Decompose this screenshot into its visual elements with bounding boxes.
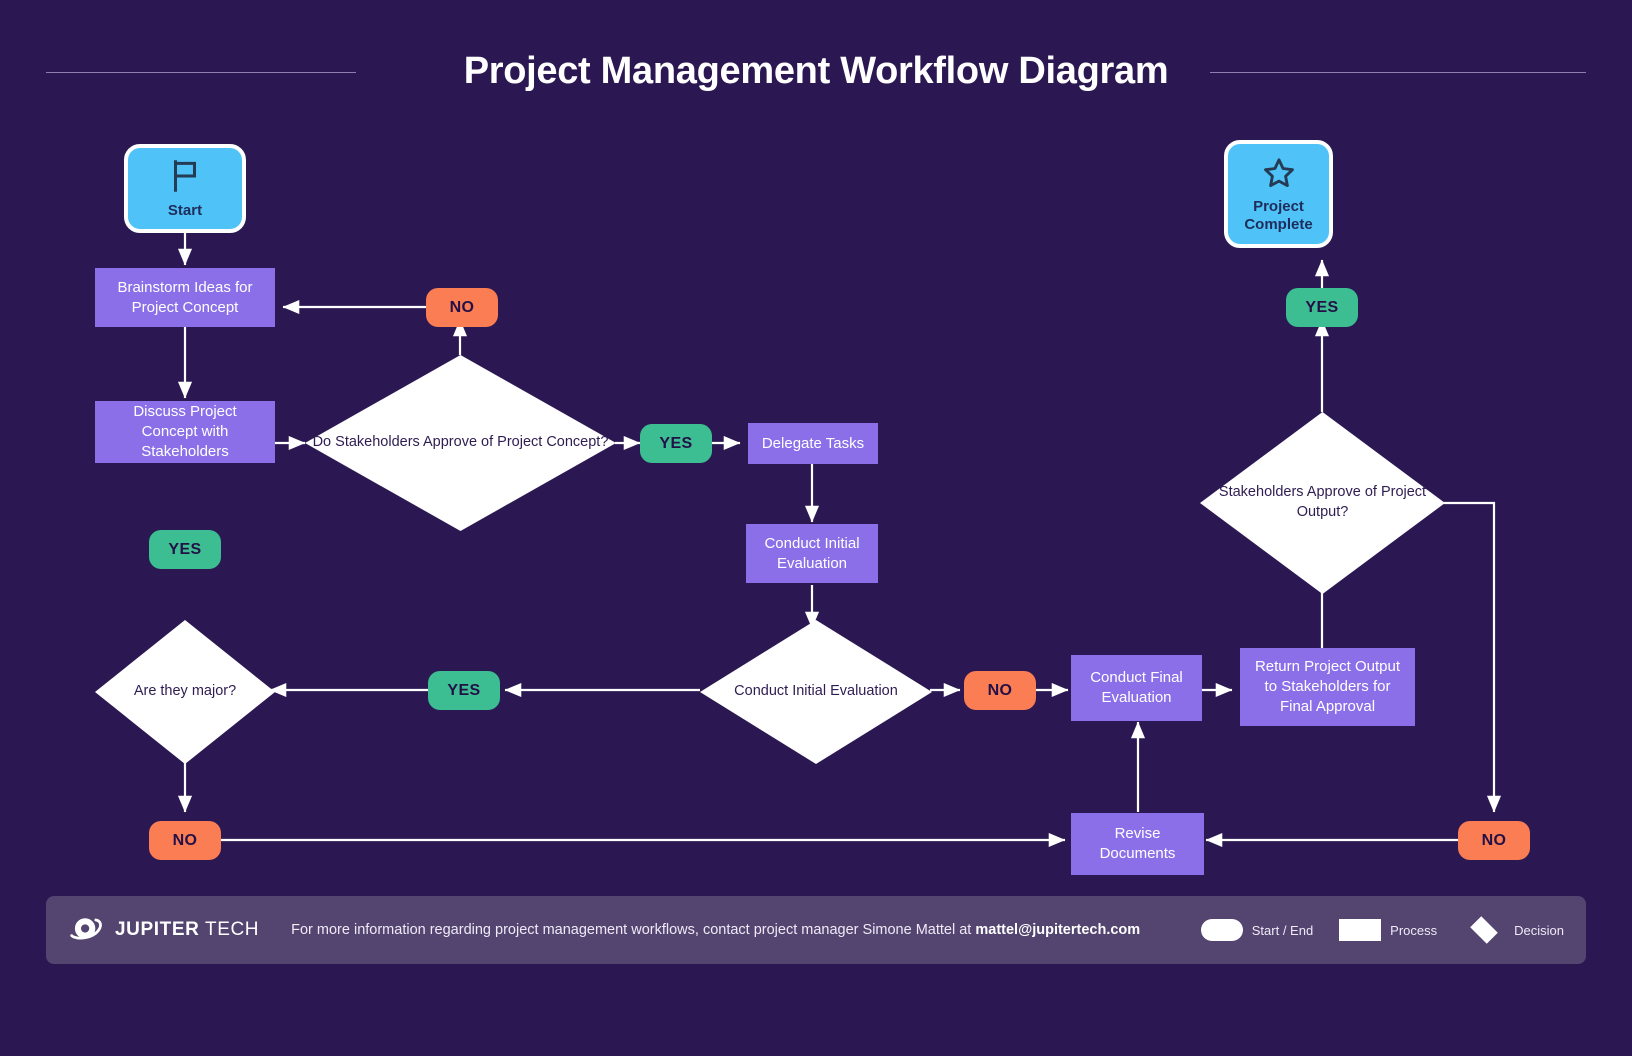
brand-name: JUPITER TECH [115,919,259,941]
legend-item-process: Process [1339,919,1437,941]
badge-no-concept[interactable]: NO [426,288,498,327]
start-label: Start [168,202,202,219]
project-complete-line1: Project [1253,198,1304,215]
badge-no-major[interactable]: NO [149,821,221,860]
badge-no-output[interactable]: NO [1458,821,1530,860]
project-complete-label: Project Complete [1244,198,1312,233]
node-delegate-tasks[interactable]: Delegate Tasks [748,423,878,464]
footer-bar: JUPITER TECH For more information regard… [46,896,1586,964]
badge-no-initial[interactable]: NO [964,671,1036,710]
decision-are-they-major[interactable]: Are they major? [95,620,275,764]
badge-yes-complete[interactable]: YES [1286,288,1358,327]
node-revise-documents[interactable]: Revise Documents [1071,813,1204,875]
legend-item-start-end: Start / End [1201,919,1313,941]
project-complete-line2: Complete [1244,216,1312,233]
footer-note-text: For more information regarding project m… [291,922,975,938]
badge-yes-concept[interactable]: YES [640,424,712,463]
legend-item-decision: Decision [1463,917,1564,943]
brand: JUPITER TECH [68,911,259,950]
node-start[interactable]: Start [124,144,246,233]
legend-swatch-rectangle-icon [1339,919,1381,941]
decision-conduct-initial-evaluation[interactable]: Conduct Initial Evaluation [700,620,932,764]
legend: Start / End Process Decision [1201,917,1564,943]
node-project-complete[interactable]: Project Complete [1224,140,1333,248]
decision-approve-concept[interactable]: Do Stakeholders Approve of Project Conce… [305,355,616,531]
node-discuss[interactable]: Discuss Project Concept with Stakeholder… [95,401,275,463]
badge-yes-discuss[interactable]: YES [149,530,221,569]
footer-contact-email[interactable]: mattel@jupitertech.com [975,922,1140,938]
diamond-shape [1200,412,1445,594]
footer-note: For more information regarding project m… [291,922,1140,938]
node-conduct-initial-evaluation[interactable]: Conduct Initial Evaluation [746,524,878,583]
brand-name-light: TECH [199,919,259,940]
diamond-shape [95,620,275,764]
node-return-project-output[interactable]: Return Project Output to Stakeholders fo… [1240,648,1415,726]
star-icon [1261,155,1297,196]
diagram-canvas: Project Management Workflow Diagram [0,0,1632,1056]
badge-yes-major[interactable]: YES [428,671,500,710]
planet-logo-icon [68,911,104,950]
decision-approve-output[interactable]: Stakeholders Approve of Project Output? [1200,412,1445,594]
node-conduct-final-evaluation[interactable]: Conduct Final Evaluation [1071,655,1202,721]
legend-label-process: Process [1390,923,1437,938]
brand-name-bold: JUPITER [115,919,199,940]
legend-swatch-diamond-icon [1463,917,1505,943]
diamond-shape [305,355,616,531]
legend-label-start-end: Start / End [1252,923,1313,938]
node-brainstorm[interactable]: Brainstorm Ideas for Project Concept [95,268,275,327]
legend-label-decision: Decision [1514,923,1564,938]
diamond-shape [700,620,932,764]
legend-swatch-rounded-icon [1201,919,1243,941]
flag-icon [166,157,204,200]
